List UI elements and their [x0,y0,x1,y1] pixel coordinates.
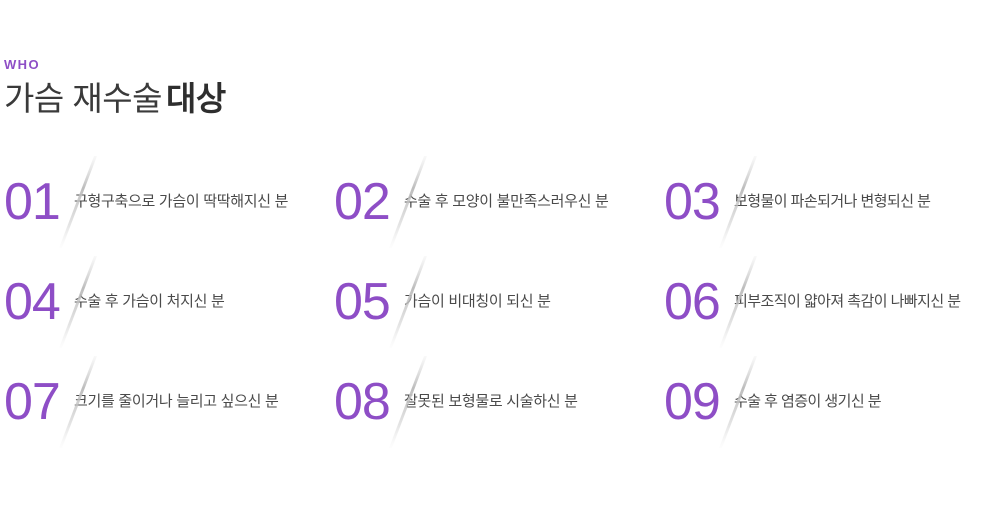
item-number: 06 [660,276,718,328]
page-title-light-part: 가슴 재수술 [4,80,162,117]
header: WHO 가슴 재수술대상 [4,58,226,115]
item-number: 01 [0,176,58,228]
section-eyebrow-label: WHO [4,58,226,71]
page-title: 가슴 재수술대상 [4,82,226,115]
item-description: 수술 후 모양이 불만족스러우신 분 [404,192,608,212]
list-item: 08 잘못된 보형물로 시술하신 분 [330,352,660,452]
item-description: 수술 후 염증이 생기신 분 [734,392,881,412]
list-item: 02 수술 후 모양이 불만족스러우신 분 [330,152,660,252]
item-number: 09 [660,376,718,428]
list-item: 07 크기를 줄이거나 늘리고 싶으신 분 [0,352,330,452]
item-description: 가슴이 비대칭이 되신 분 [404,292,551,312]
item-number: 02 [330,176,388,228]
item-number: 07 [0,376,58,428]
criteria-list: 01 구형구축으로 가슴이 딱딱해지신 분 02 [0,152,1000,452]
list-item: 05 가슴이 비대칭이 되신 분 [330,252,660,352]
item-description: 구형구축으로 가슴이 딱딱해지신 분 [74,192,288,212]
list-item: 03 보형물이 파손되거나 변형되신 분 [660,152,1000,252]
list-item: 04 수술 후 가슴이 처지신 분 [0,252,330,352]
item-number: 03 [660,176,718,228]
page-title-strong-part: 대상 [166,80,226,117]
item-number: 04 [0,276,58,328]
item-description: 보형물이 파손되거나 변형되신 분 [734,192,930,212]
list-item: 06 피부조직이 얇아져 촉감이 나빠지신 분 [660,252,1000,352]
item-description: 잘못된 보형물로 시술하신 분 [404,392,578,412]
list-item: 09 수술 후 염증이 생기신 분 [660,352,1000,452]
item-description: 크기를 줄이거나 늘리고 싶으신 분 [74,392,278,412]
list-item: 01 구형구축으로 가슴이 딱딱해지신 분 [0,152,330,252]
item-description: 수술 후 가슴이 처지신 분 [74,292,224,312]
item-description: 피부조직이 얇아져 촉감이 나빠지신 분 [734,292,960,312]
item-number: 08 [330,376,388,428]
item-number: 05 [330,276,388,328]
